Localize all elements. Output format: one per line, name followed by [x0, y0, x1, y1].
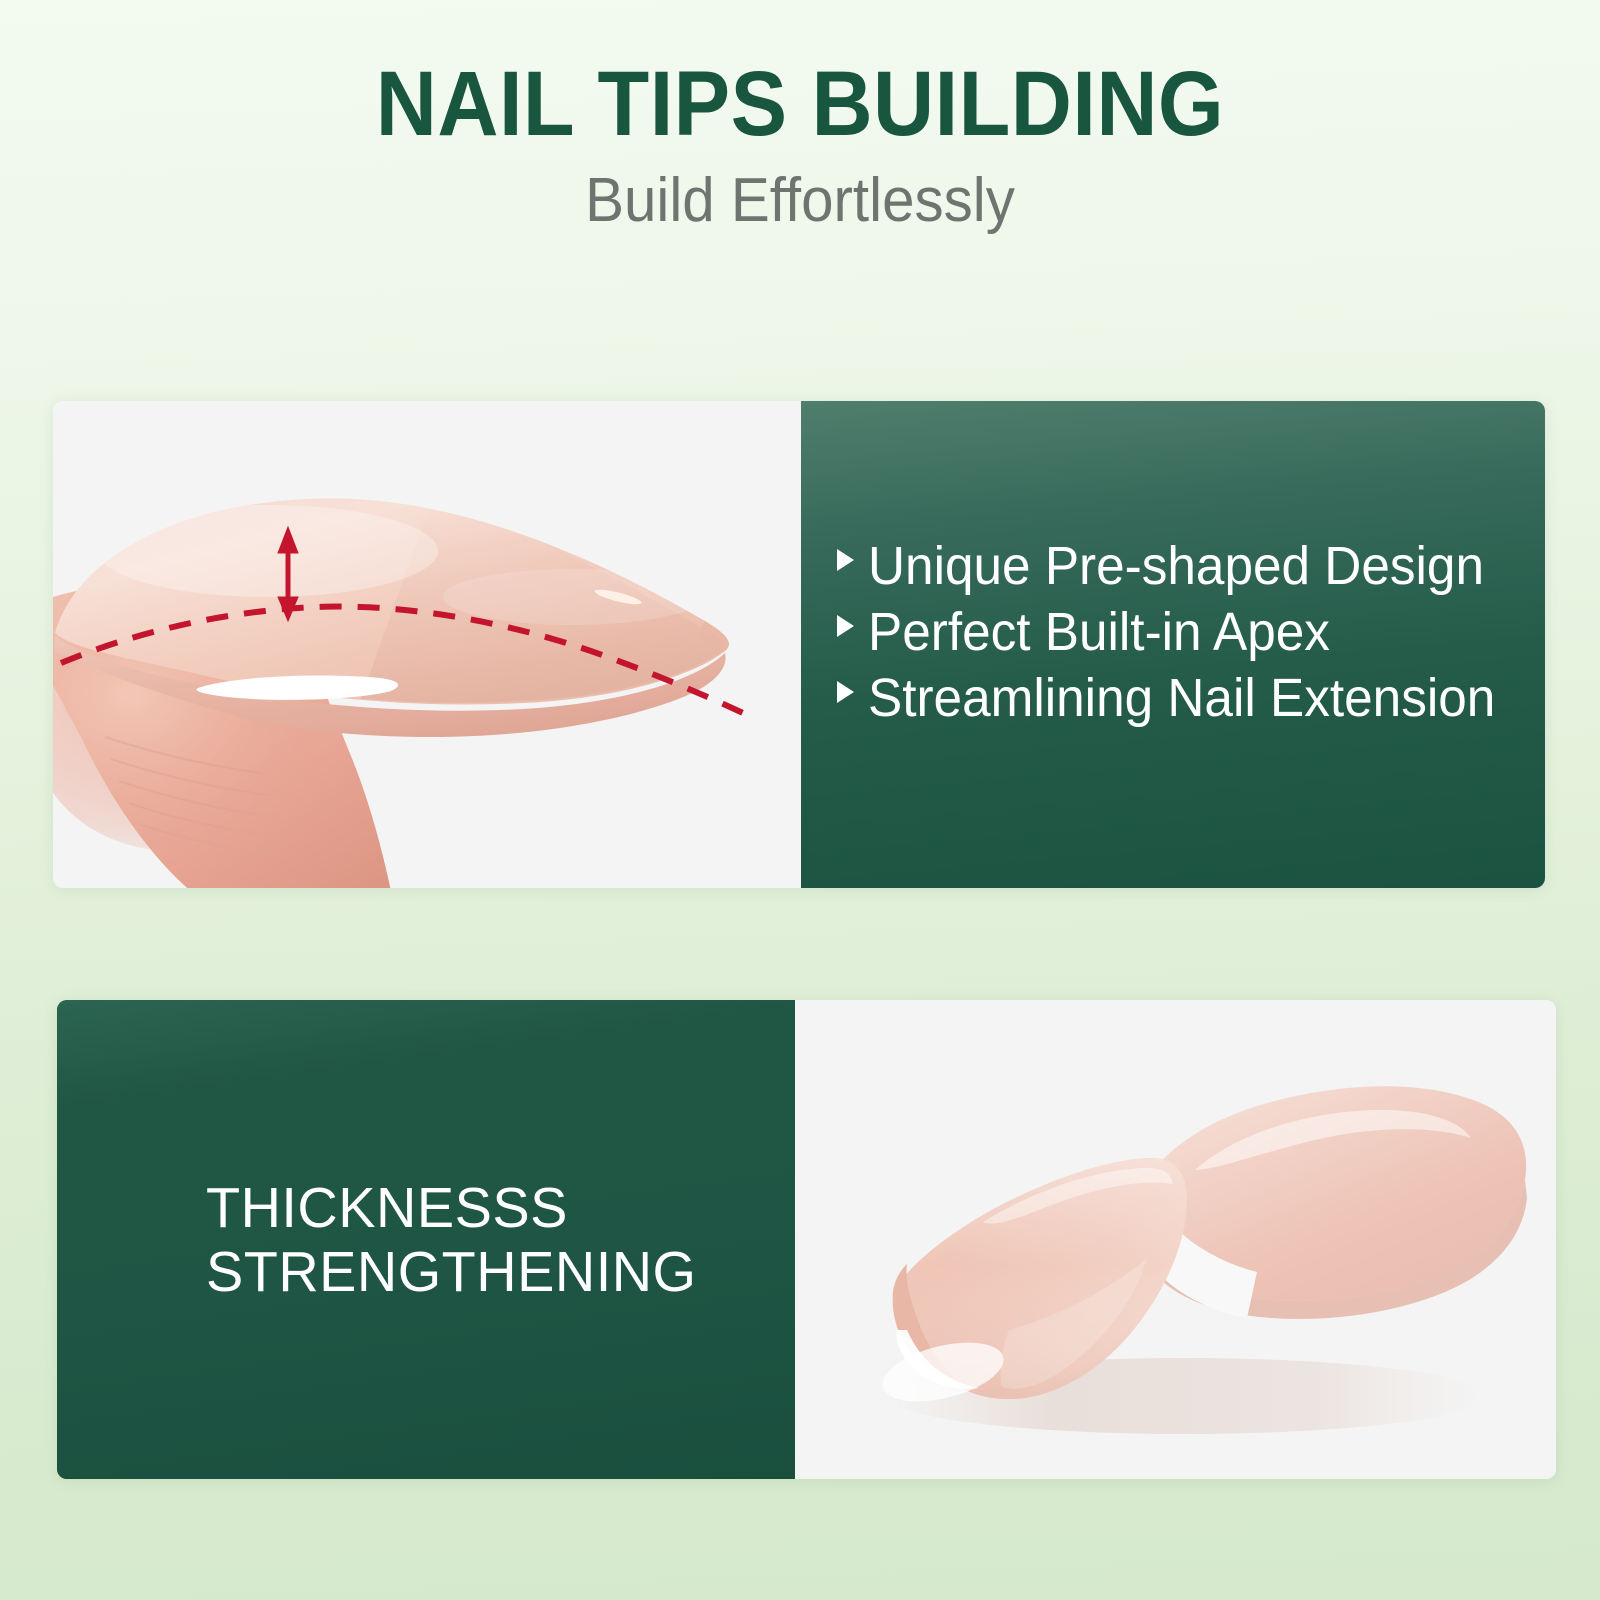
thickness-green-panel: THICKNESSS STRENGTHENING [57, 1000, 795, 1479]
thickness-heading-line-2: STRENGTHENING [206, 1240, 697, 1304]
list-item: Streamlining Nail Extension [837, 665, 1528, 731]
feature-bullet-list: Unique Pre-shaped Design Perfect Built-i… [837, 533, 1528, 731]
page-subtitle: Build Effortlessly [48, 150, 1552, 232]
bullet-label: Unique Pre-shaped Design [868, 533, 1484, 599]
page-header: NAIL TIPS BUILDING Build Effortlessly [0, 0, 1600, 232]
triangle-right-icon [837, 549, 854, 571]
page-title: NAIL TIPS BUILDING [64, 0, 1536, 150]
feature-panel-bottom: THICKNESSS STRENGTHENING [57, 1000, 1556, 1479]
feature-panel-top: Unique Pre-shaped Design Perfect Built-i… [53, 401, 1545, 888]
bullet-label: Streamlining Nail Extension [868, 665, 1495, 731]
finger-illustration [53, 401, 801, 888]
triangle-right-icon [837, 615, 854, 637]
list-item: Unique Pre-shaped Design [837, 533, 1528, 599]
nail-tips-pair-photo [795, 1000, 1556, 1479]
bullet-label: Perfect Built-in Apex [868, 599, 1330, 665]
nail-side-profile-photo [53, 401, 801, 888]
thickness-heading-line-1: THICKNESSS [206, 1176, 697, 1240]
list-item: Perfect Built-in Apex [837, 599, 1528, 665]
triangle-right-icon [837, 681, 854, 703]
nail-tips-illustration [795, 1000, 1556, 1479]
features-green-panel: Unique Pre-shaped Design Perfect Built-i… [801, 401, 1545, 888]
thickness-heading: THICKNESSS STRENGTHENING [57, 1176, 696, 1304]
